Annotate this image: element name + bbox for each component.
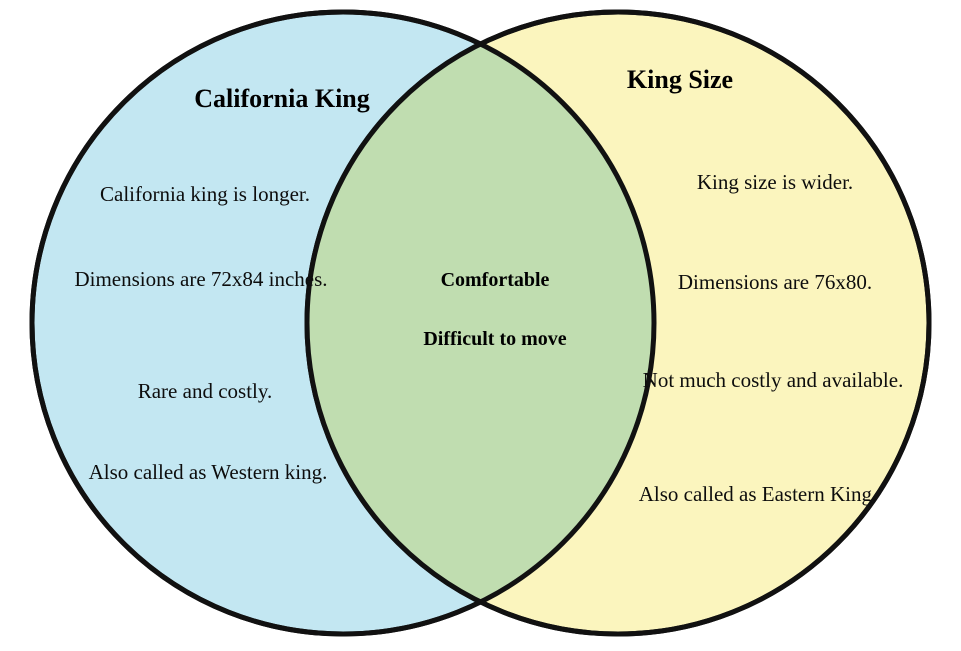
venn-diagram: California King California king is longe…: [0, 0, 961, 651]
venn-shapes: [0, 0, 961, 651]
